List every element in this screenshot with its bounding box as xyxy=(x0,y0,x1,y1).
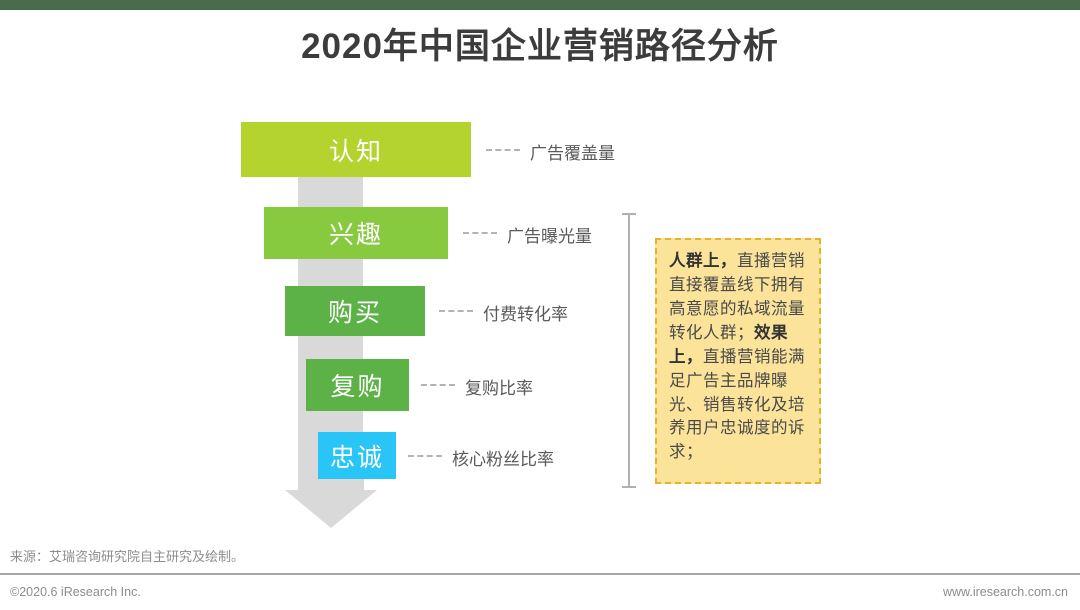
funnel-stage-3-label: 购买 xyxy=(328,293,382,329)
funnel-stage-2[interactable]: 兴趣 xyxy=(264,207,448,259)
funnel-stage-1[interactable]: 认知 xyxy=(241,122,471,177)
funnel-stage-4-label: 复购 xyxy=(330,367,384,403)
callout-lead-1: 人群上， xyxy=(669,252,737,270)
funnel-stage-2-label: 兴趣 xyxy=(329,215,383,251)
funnel-connector-3 xyxy=(439,310,473,312)
funnel-connector-2 xyxy=(463,232,497,234)
slide-canvas: 2020年中国企业营销路径分析 认知 广告覆盖量 兴趣 广告曝光量 购买 付费转… xyxy=(0,0,1080,610)
funnel-stage-3[interactable]: 购买 xyxy=(285,286,425,336)
funnel-stage-4[interactable]: 复购 xyxy=(306,359,409,411)
bracket-vertical-line xyxy=(628,213,630,488)
source-note: 来源：艾瑞咨询研究院自主研究及绘制。 xyxy=(10,546,244,565)
funnel-stage-5-label: 忠诚 xyxy=(330,438,384,474)
funnel-connector-5 xyxy=(408,455,442,457)
funnel-metric-5: 核心粉丝比率 xyxy=(452,445,554,470)
funnel-metric-3: 付费转化率 xyxy=(483,300,568,325)
callout-bracket xyxy=(622,213,636,488)
funnel-metric-1: 广告覆盖量 xyxy=(530,139,615,164)
bracket-tick-bottom xyxy=(622,486,636,488)
footer-divider xyxy=(0,573,1080,575)
footer-website[interactable]: www.iresearch.com.cn xyxy=(943,585,1068,599)
funnel-stage-5[interactable]: 忠诚 xyxy=(318,432,396,479)
footer-copyright: ©2020.6 iResearch Inc. xyxy=(10,585,141,599)
funnel-connector-1 xyxy=(486,149,520,151)
insight-callout-box: 人群上，直播营销直接覆盖线下拥有高意愿的私域流量转化人群；效果上，直播营销能满足… xyxy=(655,238,821,484)
funnel-stage-1-label: 认知 xyxy=(329,132,383,168)
funnel-chart: 认知 广告覆盖量 兴趣 广告曝光量 购买 付费转化率 复购 复购比率 忠诚 核心… xyxy=(0,0,1080,610)
funnel-metric-2: 广告曝光量 xyxy=(507,222,592,247)
funnel-connector-4 xyxy=(421,384,455,386)
funnel-metric-4: 复购比率 xyxy=(465,374,533,399)
